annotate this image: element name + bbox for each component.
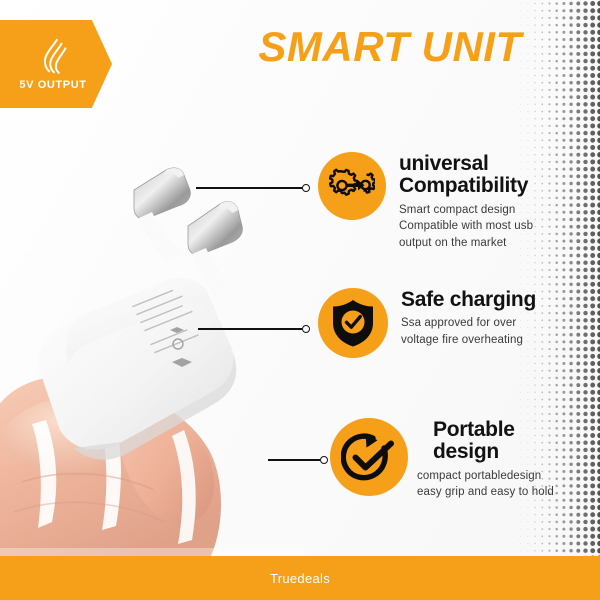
shield-check-icon xyxy=(330,298,376,348)
page-title: SMART UNIT xyxy=(230,26,550,68)
feature-text-1: universal Compatibility Smart compact de… xyxy=(399,152,539,252)
connector-endpoint xyxy=(302,325,310,333)
feature-icon-circle-3 xyxy=(330,418,408,496)
infographic-canvas: 5V OUTPUT SMART UNIT xyxy=(0,0,600,600)
footer-bar: Truedeals xyxy=(0,556,600,600)
feature-safe-charging: Safe charging Ssa approved for over volt… xyxy=(318,288,536,358)
connector-stroke xyxy=(198,328,302,330)
gears-compatibility-icon xyxy=(329,166,375,206)
connector-stroke xyxy=(268,459,320,461)
feature-icon-circle-2 xyxy=(318,288,388,358)
connector-endpoint xyxy=(320,456,328,464)
feature-universal-compatibility: universal Compatibility Smart compact de… xyxy=(318,152,539,252)
footer-brand: Truedeals xyxy=(270,571,330,586)
feature-desc-3: compact portabledesign easy grip and eas… xyxy=(417,468,554,501)
rotate-check-icon xyxy=(341,430,397,484)
feature-desc-3-line1: compact portabledesign xyxy=(417,470,541,482)
feature-title-2: Safe charging xyxy=(401,289,536,311)
connector-endpoint xyxy=(302,184,310,192)
voltage-badge: 5V OUTPUT xyxy=(0,20,112,108)
product-photo xyxy=(0,130,304,560)
feature-title-3-line2: design xyxy=(433,440,499,463)
feature-title-3-line1: Portable xyxy=(433,418,515,441)
feature-desc-2-line2: voltage fire overheating xyxy=(401,334,523,346)
feature-desc-1-line2: Compatible with most usb xyxy=(399,220,533,232)
feature-desc-1-line3: output on the market xyxy=(399,237,506,249)
feature-portable-design: Portable design compact portabledesign e… xyxy=(330,418,554,501)
feature-title-1-line1: universal xyxy=(399,152,489,175)
feature-title-1-line2: Compatibility xyxy=(399,174,528,197)
feature-title-2-line1: Safe charging xyxy=(401,288,536,311)
feature-icon-circle-1 xyxy=(318,152,386,220)
voltage-badge-label: 5V OUTPUT xyxy=(19,79,86,91)
connector-stroke xyxy=(196,187,302,189)
feature-text-3: Portable design compact portabledesign e… xyxy=(417,418,554,501)
feature-title-1: universal Compatibility xyxy=(399,153,539,198)
feature-desc-2-line1: Ssa approved for over xyxy=(401,317,516,329)
connector-line-1 xyxy=(196,183,310,193)
feature-desc-3-line2: easy grip and easy to hold xyxy=(417,486,554,498)
feature-desc-1-line1: Smart compact design xyxy=(399,204,515,216)
connector-line-3 xyxy=(268,455,328,465)
feature-desc-2: Ssa approved for over voltage fire overh… xyxy=(401,315,536,348)
feature-text-2: Safe charging Ssa approved for over volt… xyxy=(401,288,536,349)
feature-desc-1: Smart compact design Compatible with mos… xyxy=(399,202,539,252)
feature-title-3: Portable design xyxy=(433,419,553,464)
connector-line-2 xyxy=(198,324,310,334)
flame-icon xyxy=(36,37,70,77)
